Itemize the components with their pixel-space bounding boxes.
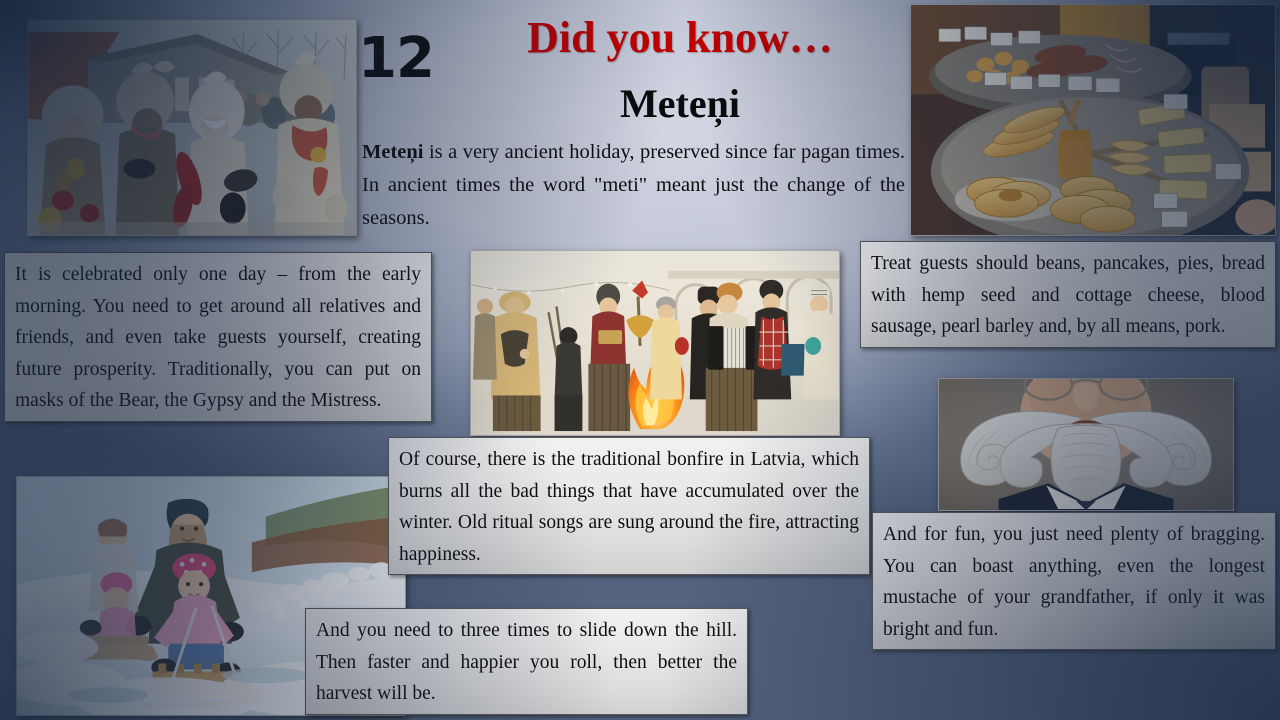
intro-lead-word: Meteņi	[362, 141, 423, 163]
folk-costume-bonfire-photo	[470, 250, 840, 436]
textbox-sledding-text: And you need to three times to slide dow…	[316, 615, 737, 710]
textbox-treats: Treat guests should beans, pancakes, pie…	[860, 241, 1276, 348]
textbox-bragging: And for fun, you just need plenty of bra…	[872, 512, 1276, 650]
intro-paragraph: Meteņi is a very ancient holiday, preser…	[362, 136, 905, 234]
page-title: Did you know…	[440, 12, 920, 63]
intro-rest-text: is a very ancient holiday, preserved sin…	[362, 141, 905, 229]
textbox-bonfire-text: Of course, there is the traditional bonf…	[399, 444, 859, 570]
textbox-treats-text: Treat guests should beans, pancakes, pie…	[871, 248, 1265, 343]
textbox-celebration-text: It is celebrated only one day – from the…	[15, 259, 421, 417]
textbox-celebration: It is celebrated only one day – from the…	[4, 252, 432, 422]
textbox-bragging-text: And for fun, you just need plenty of bra…	[883, 519, 1265, 645]
presentation-slide: 12 Did you know… Meteņi Meteņi is a very…	[0, 0, 1280, 720]
pancake-buffet-table-photo	[910, 4, 1276, 236]
curled-white-mustache-man-photo	[938, 378, 1234, 511]
textbox-bonfire: Of course, there is the traditional bonf…	[388, 437, 870, 575]
textbox-sledding: And you need to three times to slide dow…	[305, 608, 748, 715]
slide-number: 12	[358, 26, 434, 91]
page-subtitle: Meteņi	[440, 80, 920, 127]
masked-carnival-figures-photo	[27, 19, 357, 236]
